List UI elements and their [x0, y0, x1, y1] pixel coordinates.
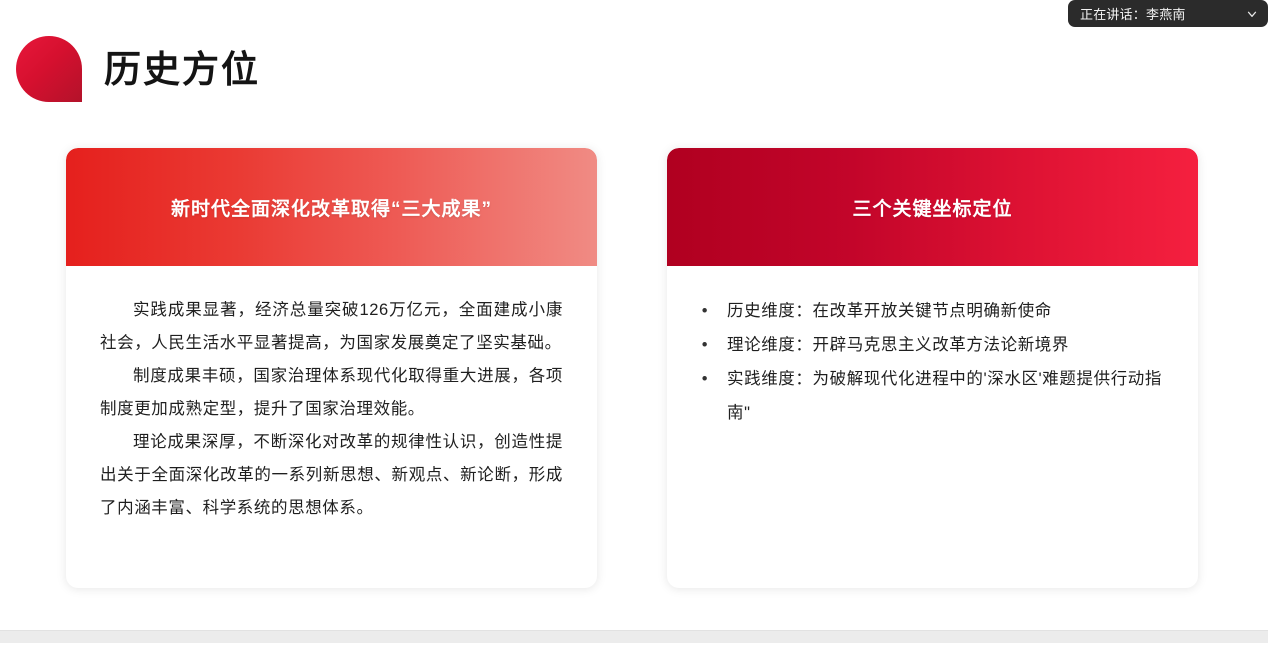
- bullet-dot-icon: •: [701, 328, 709, 362]
- list-item: • 历史维度：在改革开放关键节点明确新使命: [701, 294, 1164, 328]
- list-item-label: 理论维度：开辟马克思主义改革方法论新境界: [727, 328, 1164, 362]
- card-body-coordinates: • 历史维度：在改革开放关键节点明确新使命 • 理论维度：开辟马克思主义改革方法…: [667, 266, 1198, 588]
- bullet-dot-icon: •: [701, 362, 709, 396]
- paragraph-practical-results: 实践成果显著，经济总量突破126万亿元，全面建成小康社会，人民生活水平显著提高，…: [100, 294, 563, 360]
- card-body-achievements: 实践成果显著，经济总量突破126万亿元，全面建成小康社会，人民生活水平显著提高，…: [66, 266, 597, 588]
- bullet-dot-icon: •: [701, 294, 709, 328]
- coordinate-list: • 历史维度：在改革开放关键节点明确新使命 • 理论维度：开辟马克思主义改革方法…: [701, 294, 1164, 430]
- list-item-label: 实践维度：为破解现代化进程中的'深水区'难题提供行动指南": [727, 362, 1164, 430]
- paragraph-theoretical-results: 理论成果深厚，不断深化对改革的规律性认识，创造性提出关于全面深化改革的一系列新思…: [100, 426, 563, 525]
- teardrop-logo-icon: [16, 36, 82, 102]
- card-coordinates: 三个关键坐标定位 • 历史维度：在改革开放关键节点明确新使命 • 理论维度：开辟…: [667, 148, 1198, 588]
- card-header-achievements: 新时代全面深化改革取得“三大成果”: [66, 148, 597, 266]
- card-achievements: 新时代全面深化改革取得“三大成果” 实践成果显著，经济总量突破126万亿元，全面…: [66, 148, 597, 588]
- slide-canvas: 历史方位 新时代全面深化改革取得“三大成果” 实践成果显著，经济总量突破126万…: [0, 0, 1268, 643]
- speaker-status-label: 正在讲话：李燕南: [1080, 4, 1186, 23]
- slide-title-row: 历史方位: [16, 36, 260, 102]
- page-title: 历史方位: [104, 51, 260, 88]
- list-item-label: 历史维度：在改革开放关键节点明确新使命: [727, 294, 1164, 328]
- list-item: • 实践维度：为破解现代化进程中的'深水区'难题提供行动指南": [701, 362, 1164, 430]
- card-header-coordinates: 三个关键坐标定位: [667, 148, 1198, 266]
- chevron-down-icon[interactable]: [1245, 7, 1259, 21]
- card-grid: 新时代全面深化改革取得“三大成果” 实践成果显著，经济总量突破126万亿元，全面…: [66, 148, 1198, 588]
- bottom-strip: [0, 630, 1268, 643]
- list-item: • 理论维度：开辟马克思主义改革方法论新境界: [701, 328, 1164, 362]
- speaker-status-badge[interactable]: 正在讲话：李燕南: [1068, 0, 1268, 27]
- paragraph-institutional-results: 制度成果丰硕，国家治理体系现代化取得重大进展，各项制度更加成熟定型，提升了国家治…: [100, 360, 563, 426]
- card-header-title: 新时代全面深化改革取得“三大成果”: [171, 194, 492, 221]
- card-header-title: 三个关键坐标定位: [852, 194, 1012, 221]
